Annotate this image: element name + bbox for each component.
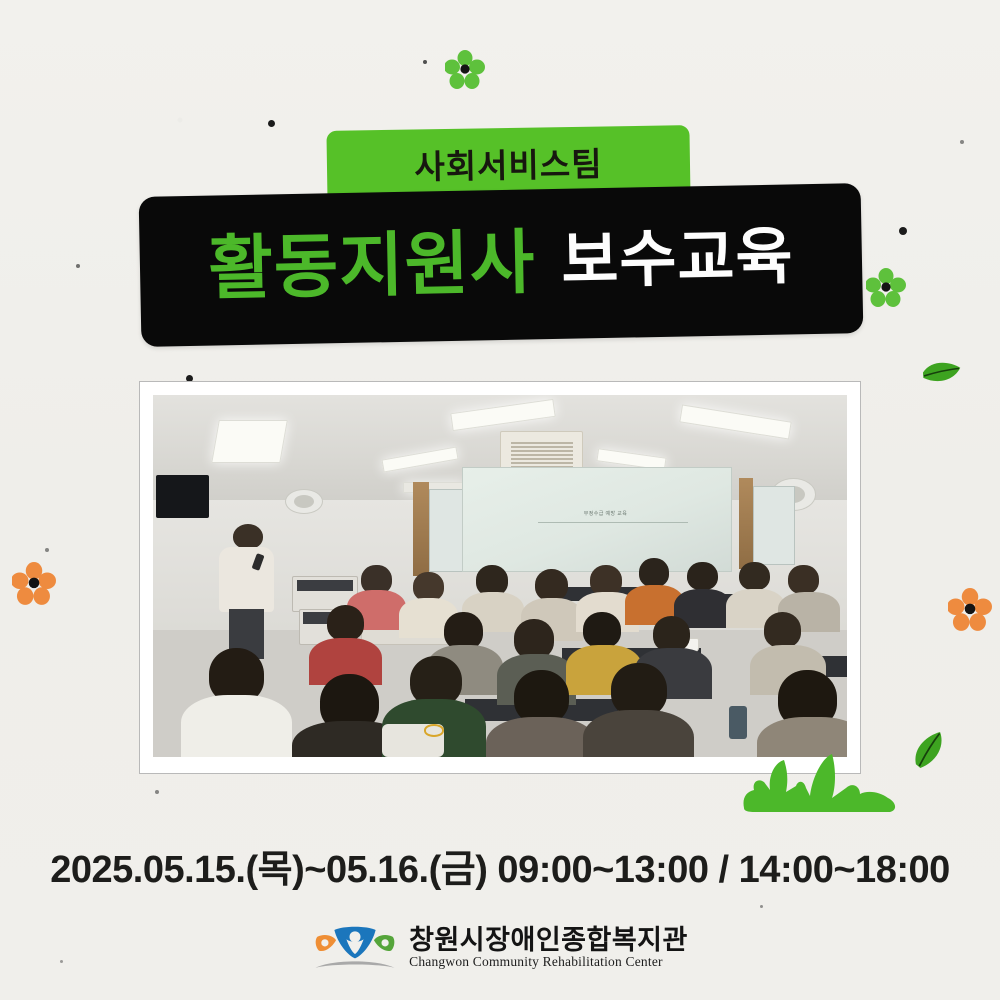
attendee-head (327, 605, 364, 641)
title-row: 활동지원사 보수교육 (208, 222, 794, 303)
flower-green-icon (866, 268, 906, 308)
department-tag-label: 사회서비스팀 (414, 147, 603, 183)
poster-canvas: 사회서비스팀 활동지원사 보수교육 (0, 0, 1000, 1000)
attendee-head (687, 562, 718, 591)
presenter-head (233, 524, 263, 549)
projection-screen: 부정수급 예방 교육 (462, 467, 733, 572)
org-name-en: Changwon Community Rehabilitation Center (409, 954, 663, 970)
flower-green-icon (445, 50, 485, 90)
wood-column (413, 482, 428, 576)
flower-orange-icon (948, 588, 992, 632)
attendee-body (486, 717, 597, 757)
title-primary: 활동지원사 (208, 227, 536, 303)
side-panel (753, 486, 795, 566)
attendee-head (653, 616, 690, 652)
attendee-head (788, 565, 819, 594)
paper-speck (76, 264, 80, 268)
attendee-body (583, 710, 694, 757)
photo-frame: 부정수급 예방 교육 (139, 381, 861, 774)
title-secondary: 보수교육 (561, 226, 794, 292)
flower-orange-icon (12, 562, 56, 606)
wall-tv (156, 475, 208, 518)
attendee-head (583, 612, 620, 648)
attendee-head (535, 569, 568, 602)
paper-speck (899, 227, 907, 235)
attendee-head (590, 565, 622, 596)
water-bottle (729, 706, 747, 739)
attendee-head (413, 572, 444, 601)
screen-rule (538, 522, 688, 523)
ceiling-light (212, 420, 289, 463)
attendee-head (764, 612, 801, 648)
event-photo: 부정수급 예방 교육 (153, 395, 847, 757)
attendee-head (476, 565, 508, 596)
paper-speck (760, 905, 763, 908)
leaf-icon (903, 727, 954, 773)
attendee-body (181, 695, 292, 757)
presenter-body (219, 547, 275, 612)
paper-speck (960, 140, 964, 144)
paper-speck (268, 120, 275, 127)
wood-column (739, 478, 753, 569)
schedule-line: 2025.05.15.(목)~05.16.(금) 09:00~13:00 / 1… (0, 838, 1000, 893)
attendee-head (639, 558, 670, 587)
side-panel (429, 489, 464, 572)
paper-speck (155, 790, 159, 794)
paper-speck (45, 548, 49, 552)
logo-text-block: 창원시장애인종합복지관 Changwon Community Rehabilit… (409, 926, 688, 971)
three-people-logo-icon (312, 922, 398, 974)
org-name-ko: 창원시장애인종합복지관 (409, 926, 688, 954)
leaf-icon (919, 353, 964, 391)
paper-speck (423, 60, 427, 64)
screen-title: 부정수급 예방 교육 (584, 510, 628, 517)
grass-icon (740, 752, 900, 814)
title-banner: 활동지원사 보수교육 (139, 183, 864, 347)
footer-logo: 창원시장애인종합복지관 Changwon Community Rehabilit… (0, 922, 1000, 974)
attendee-head (739, 562, 770, 591)
